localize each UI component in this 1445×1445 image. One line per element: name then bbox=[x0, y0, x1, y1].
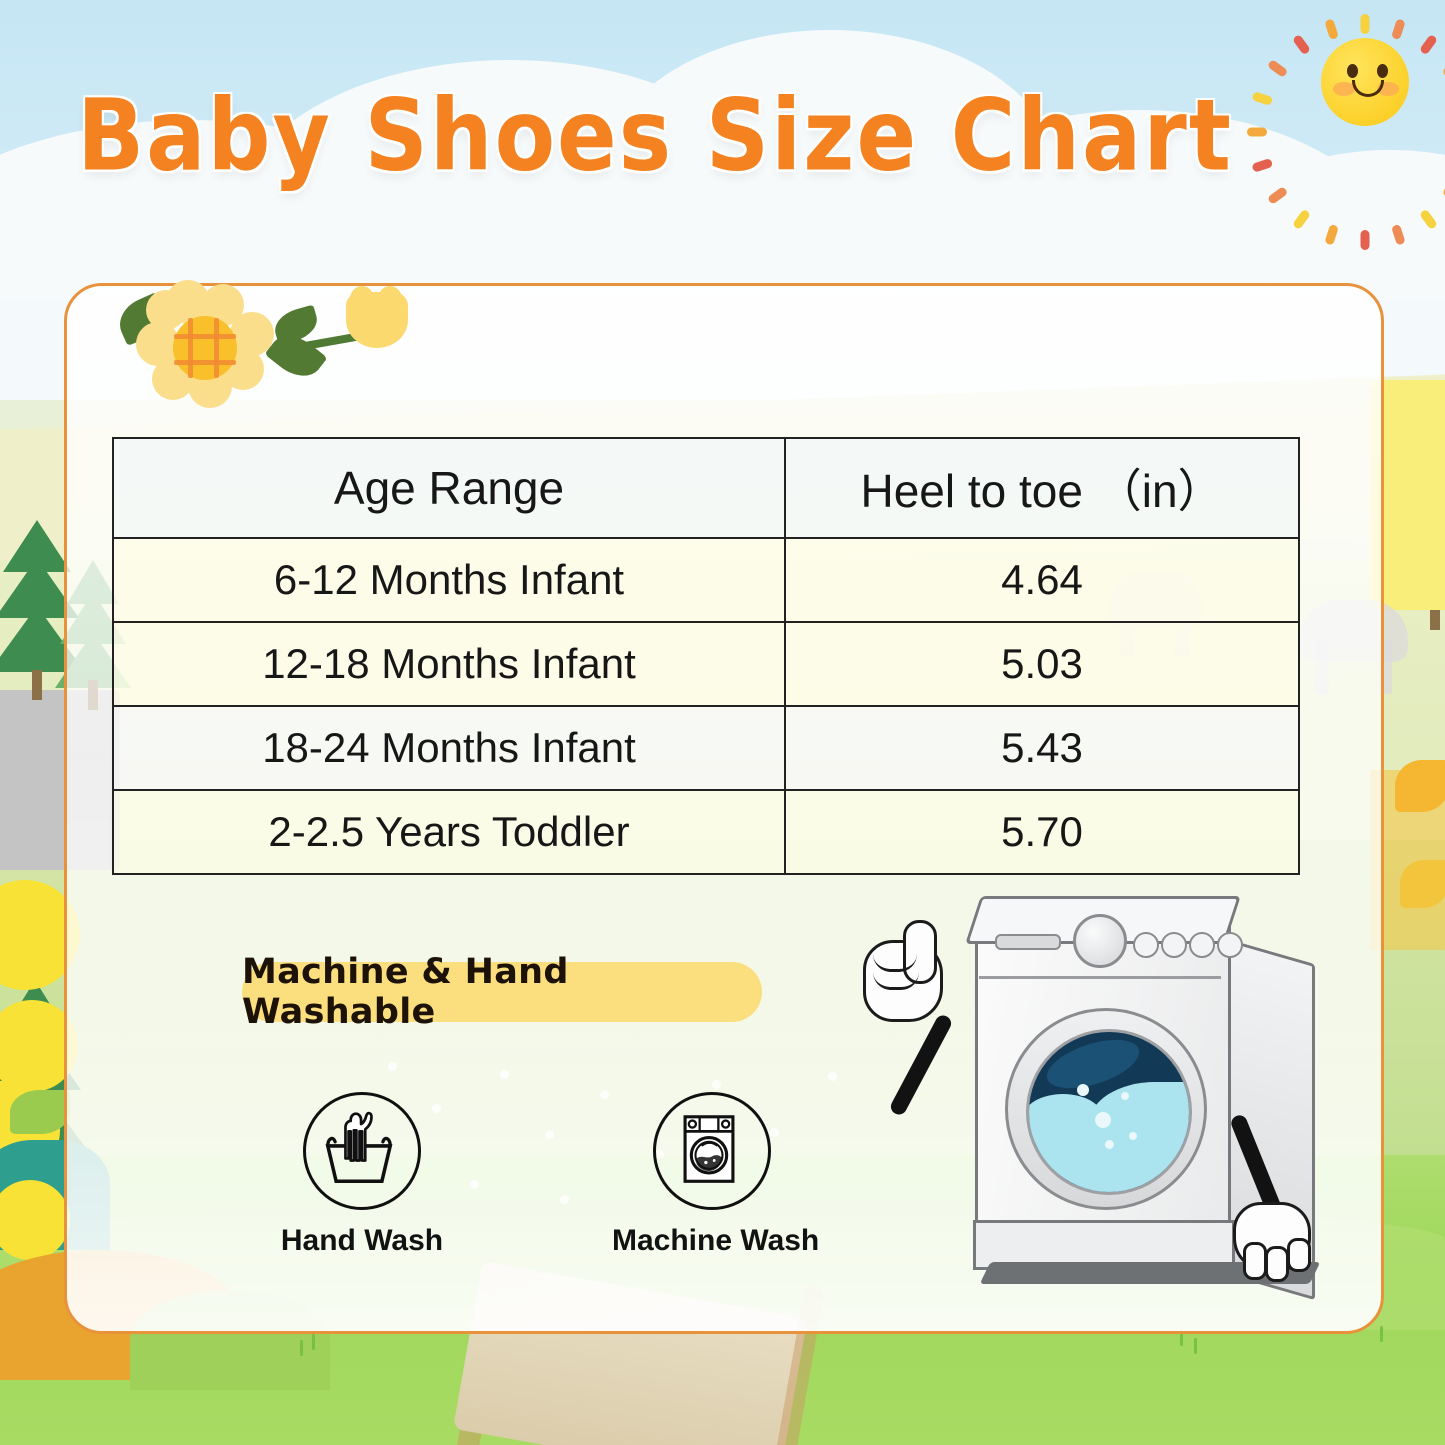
bubble bbox=[1105, 1140, 1114, 1149]
indicator-button bbox=[1217, 932, 1243, 958]
grid-line bbox=[188, 318, 193, 378]
daisy-flower-icon bbox=[118, 278, 418, 408]
sun-eye bbox=[1347, 64, 1358, 78]
table-row: 6-12 Months Infant 4.64 bbox=[113, 538, 1299, 622]
grass-tuft bbox=[300, 1340, 303, 1356]
cell-age-range: 2-2.5 Years Toddler bbox=[113, 790, 785, 874]
tulip-bud bbox=[350, 286, 374, 312]
column-header-age-range: Age Range bbox=[113, 438, 785, 538]
leaf bbox=[1395, 760, 1445, 812]
table-row: 12-18 Months Infant 5.03 bbox=[113, 622, 1299, 706]
indicator-button bbox=[1133, 932, 1159, 958]
grass-tuft bbox=[312, 1334, 315, 1350]
grid-line bbox=[174, 360, 236, 365]
petal bbox=[146, 290, 186, 330]
tulip-bud bbox=[378, 286, 402, 312]
leaf bbox=[1400, 860, 1445, 908]
grass-tuft bbox=[1194, 1338, 1197, 1354]
cell-age-range: 6-12 Months Infant bbox=[113, 538, 785, 622]
hand-wash-item: Hand Wash bbox=[262, 1092, 462, 1258]
cell-heel-to-toe: 5.03 bbox=[785, 622, 1299, 706]
bubble bbox=[1095, 1112, 1111, 1128]
column-header-heel-to-toe: Heel to toe （in） bbox=[785, 438, 1299, 538]
mascot-finger bbox=[1265, 1246, 1289, 1282]
bubble bbox=[1129, 1132, 1137, 1140]
table-row: 18-24 Months Infant 5.43 bbox=[113, 706, 1299, 790]
indicator-button bbox=[1189, 932, 1215, 958]
hand-wash-label: Hand Wash bbox=[262, 1224, 462, 1258]
sun-smiling-icon bbox=[1295, 12, 1435, 152]
mascot-finger bbox=[1287, 1238, 1311, 1272]
mascot-left-arm bbox=[888, 1013, 954, 1118]
bubble bbox=[1077, 1084, 1089, 1096]
grid-line bbox=[214, 318, 219, 378]
bubble bbox=[1121, 1092, 1129, 1100]
cell-age-range: 12-18 Months Infant bbox=[113, 622, 785, 706]
cell-age-range: 18-24 Months Infant bbox=[113, 706, 785, 790]
cell-heel-to-toe: 5.43 bbox=[785, 706, 1299, 790]
machine-wash-icon bbox=[653, 1092, 771, 1210]
machine-wash-label: Machine Wash bbox=[612, 1224, 812, 1258]
indicator-button bbox=[1161, 932, 1187, 958]
grid-line bbox=[174, 334, 236, 339]
page-title: Baby Shoes Size Chart bbox=[0, 78, 1310, 193]
size-table: Age Range Heel to toe （in） 6-12 Months I… bbox=[112, 437, 1300, 875]
sun-eye bbox=[1377, 64, 1388, 78]
cell-heel-to-toe: 4.64 bbox=[785, 538, 1299, 622]
flower-center bbox=[173, 316, 237, 380]
program-dial bbox=[1073, 914, 1127, 968]
table-header-row: Age Range Heel to toe （in） bbox=[113, 438, 1299, 538]
machine-wash-item: Machine Wash bbox=[612, 1092, 812, 1258]
grass-tuft bbox=[1380, 1326, 1383, 1342]
washing-machine-mascot-icon bbox=[845, 890, 1345, 1320]
machine-drum bbox=[1026, 1029, 1192, 1195]
table-row: 2-2.5 Years Toddler 5.70 bbox=[113, 790, 1299, 874]
washable-badge: Machine & Hand Washable bbox=[242, 962, 762, 1022]
wash-care-icons: Hand Wash Machine Wash bbox=[240, 1092, 820, 1267]
leaf bbox=[10, 1090, 70, 1134]
mascot-finger bbox=[1243, 1242, 1267, 1280]
machine-door bbox=[1005, 1008, 1207, 1210]
cell-heel-to-toe: 5.70 bbox=[785, 790, 1299, 874]
detergent-drawer bbox=[995, 934, 1061, 950]
hand-wash-icon bbox=[303, 1092, 421, 1210]
